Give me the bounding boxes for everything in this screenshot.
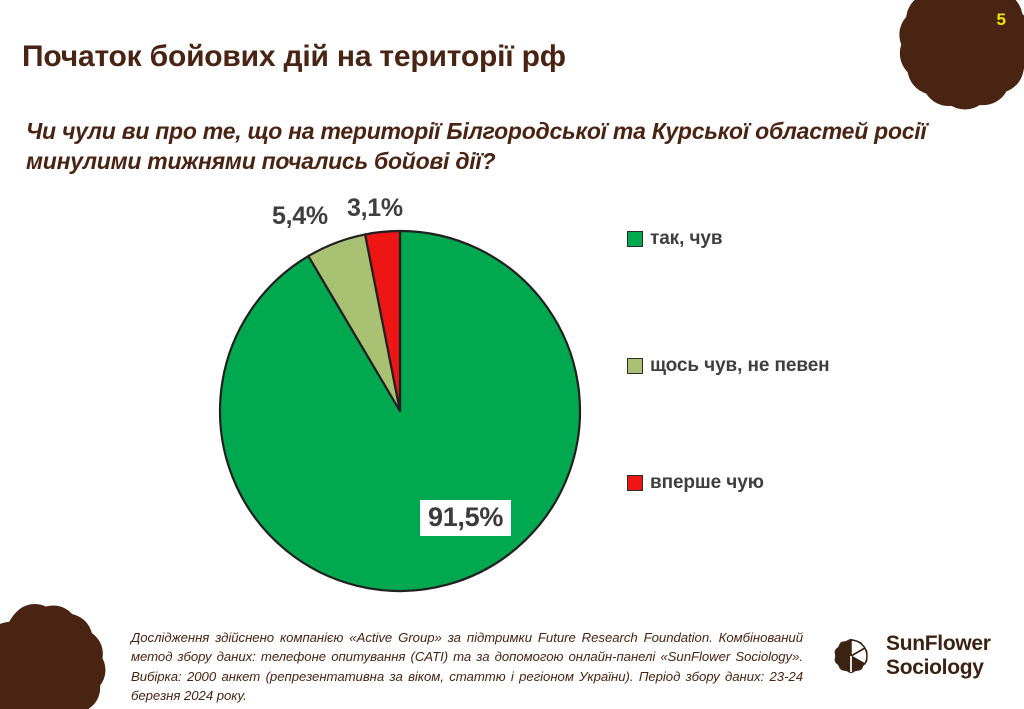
legend-item-label: так, чув: [650, 228, 722, 250]
sunflower-sociology-logo: SunFlower Sociology: [822, 625, 1007, 687]
legend-swatch-icon: [627, 475, 643, 491]
slice-label-3-1: 3,1%: [347, 194, 403, 223]
page-title: Початок бойових дій на території рф: [22, 40, 566, 74]
slice-label-5-4: 5,4%: [272, 202, 328, 231]
slide-root: 5 Початок бойових дій на території рф Чи…: [0, 0, 1024, 709]
slice-label-91-5: 91,5%: [420, 500, 511, 536]
legend-item-vpershe-chuiu[interactable]: вперше чую: [627, 472, 764, 494]
legend-item-label: щось чув, не певен: [650, 355, 830, 377]
logo-wordmark: SunFlower Sociology: [886, 632, 991, 679]
logo-line-2: Sociology: [886, 656, 991, 680]
legend-swatch-icon: [627, 358, 643, 374]
pie-chart-svg: [212, 223, 588, 599]
pie-slice-vpershe-chuiu[interactable]: [365, 231, 400, 411]
logo-line-1: SunFlower: [886, 632, 991, 656]
pie-slice-shchos-chuv[interactable]: [308, 234, 400, 411]
legend-item-label: вперше чую: [650, 472, 764, 494]
legend-item-shchos-chuv[interactable]: щось чув, не певен: [627, 355, 830, 377]
sunflower-logo-icon: [822, 627, 880, 685]
survey-question: Чи чули ви про те, що на території Білго…: [26, 117, 1001, 177]
methodology-note: Дослідження здійснено компанією «Active …: [131, 628, 803, 706]
legend-item-tak-chuv[interactable]: так, чув: [627, 228, 722, 250]
pie-slice-tak-chuv[interactable]: [220, 231, 580, 591]
page-number: 5: [997, 10, 1006, 30]
pie-chart: 5,4% 3,1% 91,5%: [0, 0, 1024, 709]
legend-swatch-icon: [627, 231, 643, 247]
flower-decoration-bottom-left: [0, 573, 146, 709]
